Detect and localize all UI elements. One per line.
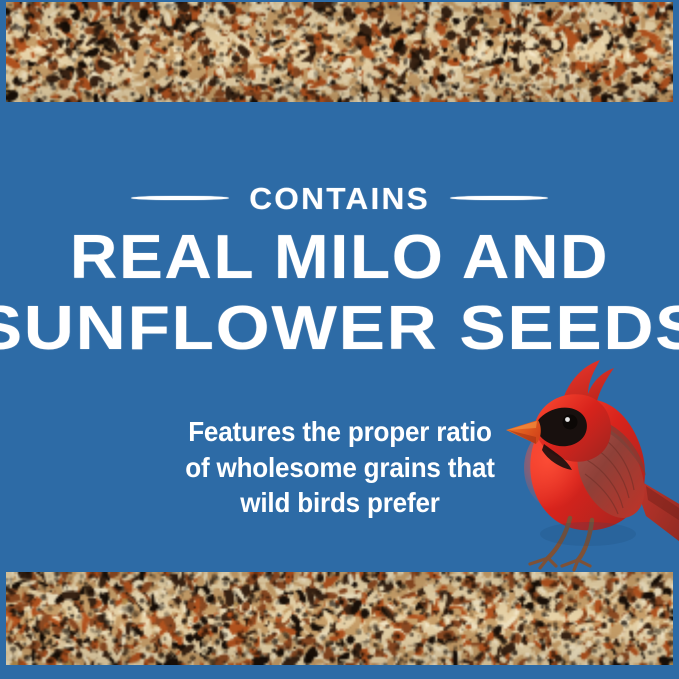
seed-mix-texture-bottom <box>6 572 673 665</box>
seed-band-bottom <box>6 572 673 665</box>
decorative-rule-left-icon <box>131 194 229 202</box>
northern-cardinal-icon <box>496 358 679 580</box>
decorative-rule-right-icon <box>450 194 548 202</box>
seed-band-top <box>6 2 673 102</box>
seed-mix-texture-top <box>6 2 673 102</box>
contains-label: CONTAINS <box>249 183 430 214</box>
headline: REAL MILO AND SUNFLOWER SEEDS <box>0 228 679 360</box>
headline-line-2: SUNFLOWER SEEDS <box>0 299 679 360</box>
headline-line-1: REAL MILO AND <box>0 228 679 289</box>
product-feature-poster: CONTAINS REAL MILO AND SUNFLOWER SEEDS F… <box>0 0 679 679</box>
contains-eyebrow-row: CONTAINS <box>0 176 679 220</box>
